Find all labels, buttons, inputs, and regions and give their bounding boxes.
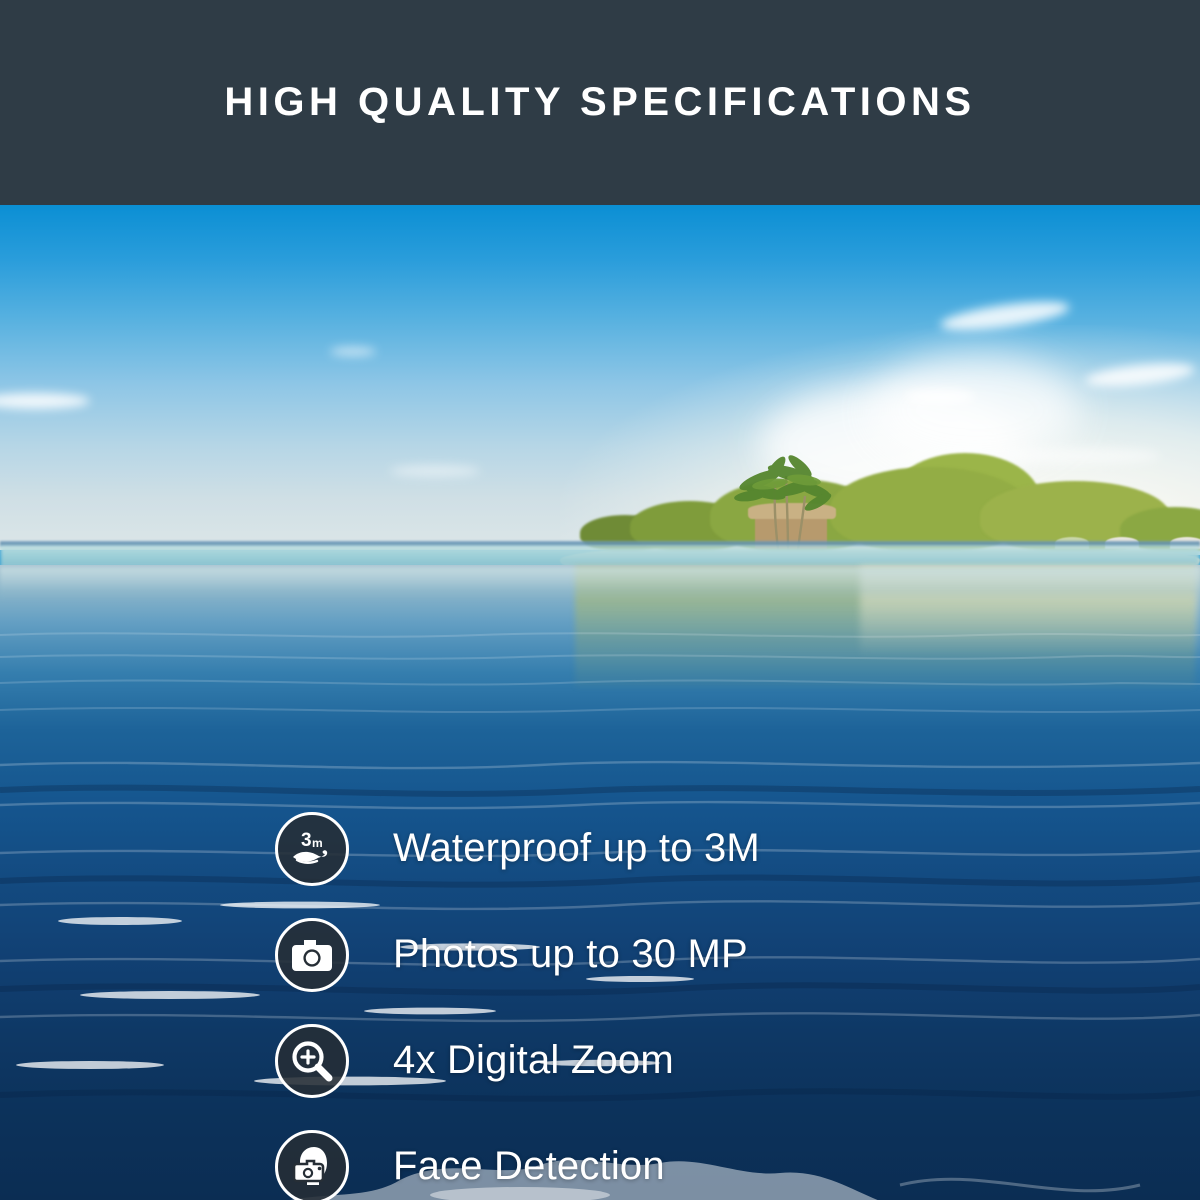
cloud [390,465,480,477]
feature-label: Photos up to 30 MP [393,932,748,977]
camera-glyph [289,935,335,975]
specifications-page: HIGH QUALITY SPECIFICATIONS [0,0,1200,1200]
face-detection-glyph [288,1144,336,1190]
feature-item-face-detection[interactable]: Face Detection [275,1130,1175,1200]
page-header: HIGH QUALITY SPECIFICATIONS [0,0,1200,205]
cloud [905,390,975,404]
feature-label: Waterproof up to 3M [393,826,760,871]
feature-item-zoom[interactable]: 4x Digital Zoom [275,1024,1175,1097]
svg-text:3: 3 [301,830,312,851]
magnifier-zoom-in-icon [275,1024,349,1098]
svg-text:m: m [312,836,323,850]
waterproof-3m-icon: 3 m [275,812,349,886]
magnifier-plus-glyph [289,1038,335,1084]
feature-item-waterproof[interactable]: 3 m Waterproof up to 3M [275,812,1175,885]
page-title: HIGH QUALITY SPECIFICATIONS [224,80,975,125]
feature-item-photos[interactable]: Photos up to 30 MP [275,918,1175,991]
face-detection-icon [275,1130,349,1200]
hero-image: 3 m Waterproof up to 3M P [0,205,1200,1200]
feature-label: Face Detection [393,1144,665,1189]
feature-label: 4x Digital Zoom [393,1038,674,1083]
near-shore-band [0,567,1200,601]
waterproof-3m-glyph: 3 m [287,824,337,874]
camera-icon [275,918,349,992]
cloud [330,347,376,356]
feature-list: 3 m Waterproof up to 3M P [275,812,1175,1200]
